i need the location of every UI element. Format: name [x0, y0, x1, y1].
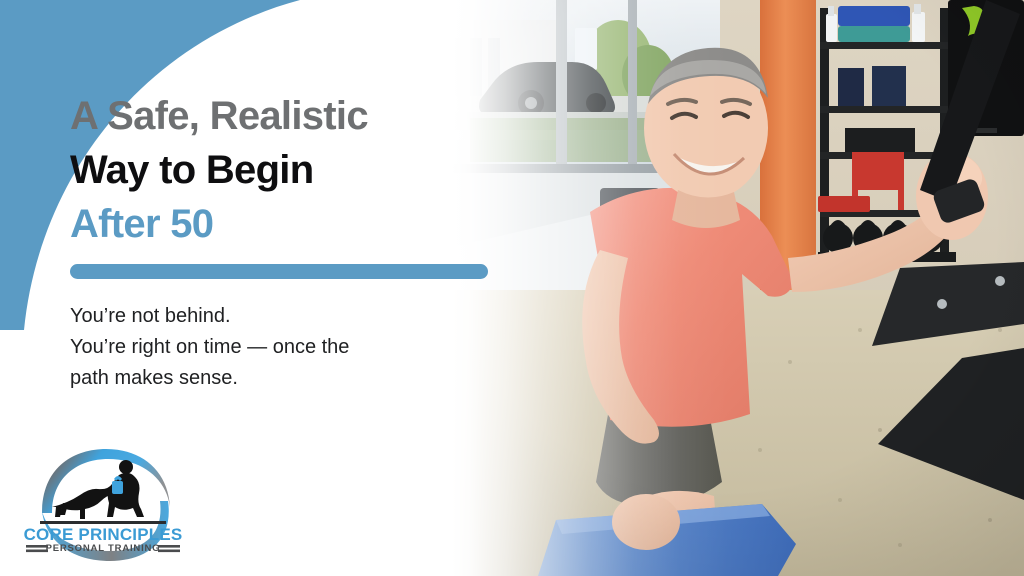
logo-primary-text: CORE PRINCIPLES [24, 525, 183, 544]
subcopy-paragraph: You’re not behind. You’re right on time … [70, 301, 470, 394]
headline-line-1: A Safe, Realistic [70, 96, 500, 136]
subcopy-line-2: You’re right on time — once the [70, 332, 470, 363]
text-content-block: A Safe, Realistic Way to Begin After 50 … [70, 96, 500, 394]
seated-kettlebell-figure-silhouette [107, 460, 144, 517]
headline-line-2: Way to Begin [70, 150, 500, 190]
headline-line-3: After 50 [70, 204, 500, 244]
subcopy-line-1: You’re not behind. [70, 301, 470, 332]
accent-divider-bar [70, 264, 488, 279]
logo-swoosh-upper [42, 449, 170, 513]
logo-secondary-text: PERSONAL TRAINING [46, 543, 161, 554]
subcopy-line-3: path makes sense. [70, 363, 470, 394]
promotional-slide: A Safe, Realistic Way to Begin After 50 … [0, 0, 1024, 576]
core-principles-logo: CORE PRINCIPLES PERSONAL TRAINING [18, 441, 188, 566]
